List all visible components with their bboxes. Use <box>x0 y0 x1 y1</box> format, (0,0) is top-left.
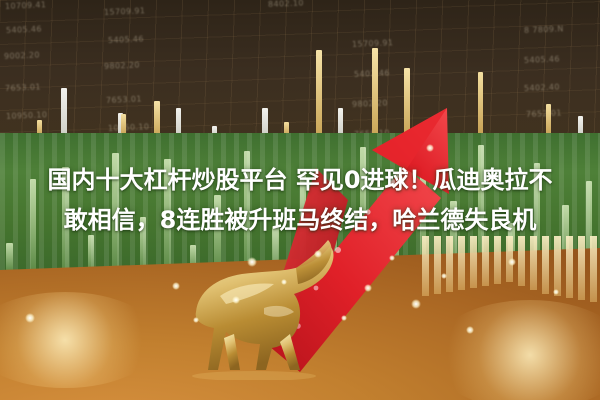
ticker-label: 8402.10 <box>268 0 304 9</box>
ticker-label: 15709.91 <box>104 6 146 17</box>
fence-slat <box>578 236 585 300</box>
headline-line-1: 国内十大杠杆炒股平台 罕见0进球！瓜迪奥拉不 <box>0 160 600 200</box>
fence-slat <box>494 236 501 284</box>
ticker-label: 5405.46 <box>524 54 560 65</box>
candlestick-bar <box>61 88 67 136</box>
ticker-label: 7653.01 <box>5 82 41 93</box>
ticker-label: 5405.46 <box>108 34 144 45</box>
fence-slat <box>590 236 597 302</box>
candlestick-bar <box>338 108 343 136</box>
candlestick-bar <box>316 50 322 136</box>
candlestick-bar <box>404 68 410 136</box>
candlestick-bar <box>262 108 268 136</box>
fence-slat <box>554 236 561 296</box>
fence-slat <box>542 236 549 294</box>
fence-slat <box>470 236 477 288</box>
ticker-label: 9802.20 <box>352 98 388 109</box>
ticker-label: 10950.10 <box>108 122 150 133</box>
ticker-label: 5405.46 <box>6 24 42 35</box>
candlestick-bar <box>154 101 160 136</box>
fence-slat <box>446 236 453 292</box>
fence-slat <box>518 236 525 286</box>
candlestick-bar <box>176 108 181 136</box>
green-chart-bar <box>6 243 13 271</box>
ticker-label: 7653.01 <box>106 94 142 105</box>
ticker-label: 10709.41 <box>5 0 47 11</box>
ticker-label: 9802.20 <box>104 60 140 71</box>
striped-fence <box>420 236 600 302</box>
ticker-label: 9002.20 <box>4 50 40 61</box>
fence-slat <box>530 236 537 290</box>
green-chart-bar <box>88 235 94 271</box>
fence-slat <box>566 236 573 298</box>
fence-slat <box>434 236 441 294</box>
fence-slat <box>482 236 489 286</box>
fence-slat <box>458 236 465 290</box>
headline-text: 国内十大杠杆炒股平台 罕见0进球！瓜迪奥拉不 敢相信，8连胜被升班马终结，哈兰德… <box>0 160 600 240</box>
ticker-label: 8 7809.N <box>524 24 564 35</box>
candlestick-bar <box>372 48 378 136</box>
fence-slat <box>506 236 513 282</box>
candlestick-bar <box>546 104 551 136</box>
fence-slat <box>422 236 429 296</box>
headline-line-2: 敢相信，8连胜被升班马终结，哈兰德失良机 <box>0 200 600 240</box>
candlestick-bar <box>478 72 483 136</box>
ticker-label: 5402.40 <box>524 82 560 93</box>
ticker-label: 7652.01 <box>526 108 562 119</box>
thumbnail-image: 10709.415405.469002.207653.0110950.10157… <box>0 0 600 400</box>
